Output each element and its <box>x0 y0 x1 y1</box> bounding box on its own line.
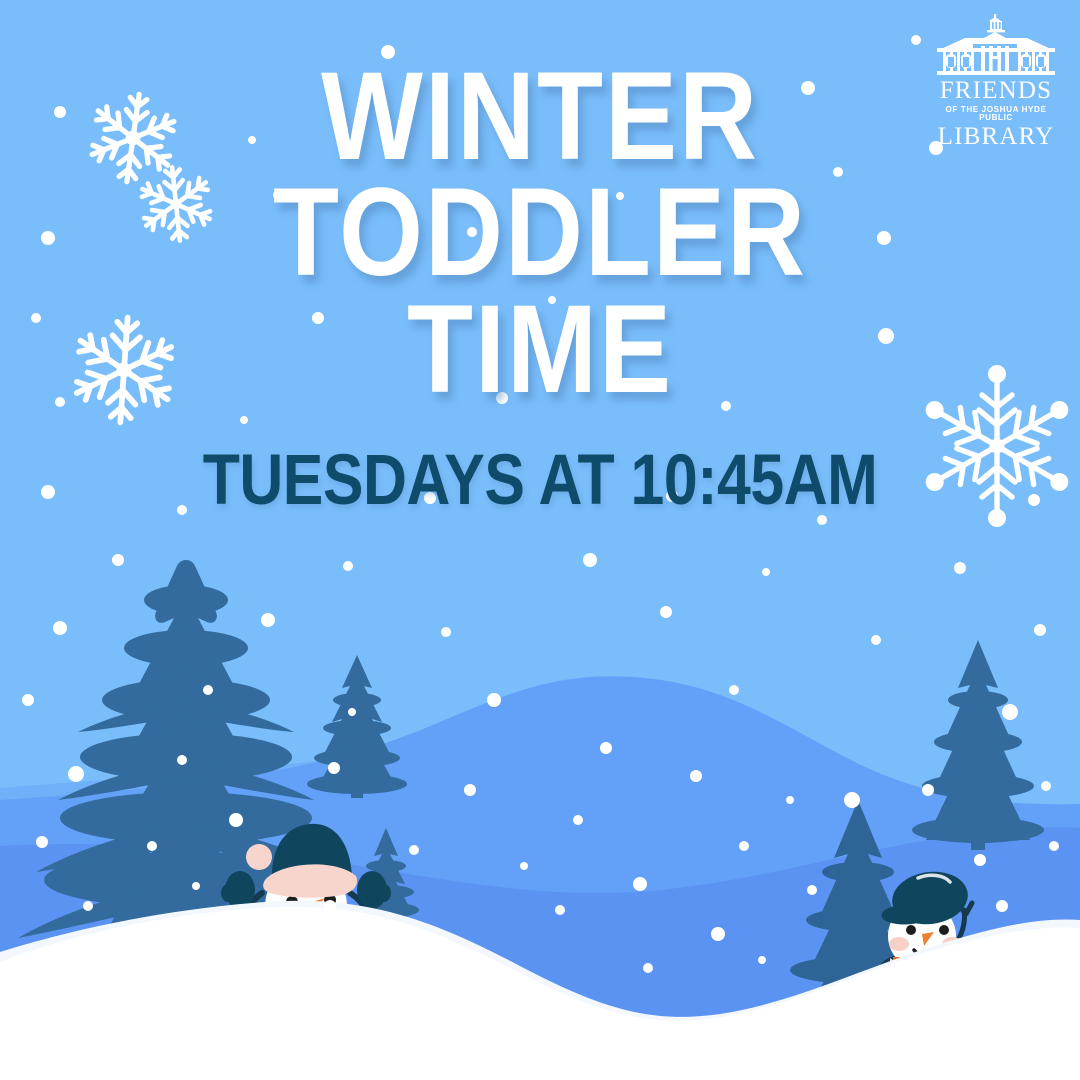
headline-line-2: TODDLER <box>0 174 1080 289</box>
logo-line-of-the-joshua-hyde-public: OF THE JOSHUA HYDE PUBLIC <box>930 106 1062 122</box>
snowman-right-eye-right <box>939 925 949 935</box>
snowman-left-pompom <box>246 844 272 870</box>
snowman-right-eye-left <box>906 925 916 935</box>
snowman-right-cheek-left <box>889 937 909 951</box>
logo-line-library: LIBRARY <box>930 124 1062 149</box>
subtitle-schedule: TUESDAYS AT 10:45AM <box>27 438 1053 521</box>
logo-line-friends: FRIENDS <box>930 78 1062 103</box>
friends-of-library-logo: FRIENDS OF THE JOSHUA HYDE PUBLIC LIBRAR… <box>930 14 1062 154</box>
headline-line-3: TIME <box>0 291 1080 406</box>
poster-text-block: WINTER TODDLER TIME TUESDAYS AT 10:45AM <box>0 0 1080 512</box>
headline-line-1: WINTER <box>0 58 1080 173</box>
library-building-icon <box>937 14 1055 76</box>
winter-toddler-time-poster: WINTER TODDLER TIME TUESDAYS AT 10:45AM <box>0 0 1080 1080</box>
